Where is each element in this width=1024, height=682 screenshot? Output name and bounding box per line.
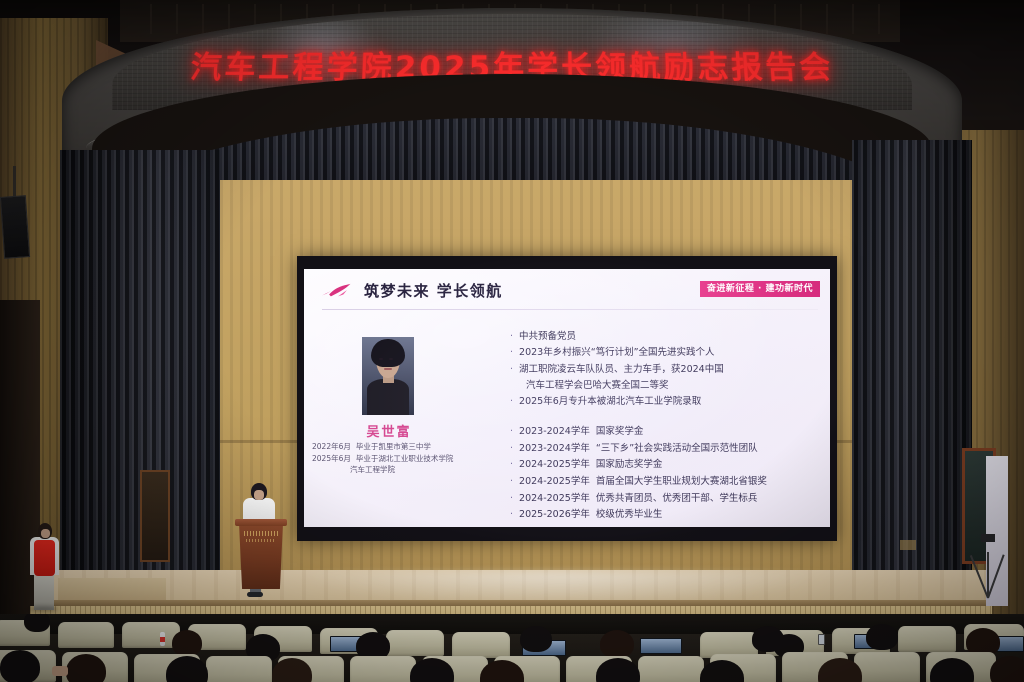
audience-head — [0, 650, 40, 682]
seat — [452, 632, 510, 658]
audience-head — [172, 630, 202, 656]
speaker-shoes — [247, 592, 263, 597]
bullet-text: 2023年乡村振兴“笃行计划”全国先进实践个人 — [519, 345, 715, 361]
education-text: 毕业于湖北工业职业技术学院 — [356, 453, 454, 465]
audience-head — [166, 656, 208, 682]
seat — [898, 626, 956, 652]
list-item: · 2023-2024学年 “三下乡”社会实践活动全国示范性团队 — [510, 441, 820, 458]
seat — [854, 652, 920, 682]
seat — [350, 656, 416, 682]
bullet-text: 中共预备党员 — [519, 329, 576, 345]
volunteer-red-vest — [34, 540, 55, 576]
list-item-cont: 汽车工程学会巴哈大赛全国二等奖 — [510, 378, 810, 394]
bullet-dot: · — [510, 507, 513, 524]
list-item: · 2025年6月专升本被湖北汽车工业学院录取 — [510, 394, 810, 410]
bullet-dot: · — [510, 441, 513, 458]
desk-monitor — [640, 638, 682, 654]
bullet-dot: · — [510, 457, 513, 474]
auditorium-photo: 汽车工程学院2025年学长领航励志报告会 筑梦未来 学长领航 奋进新征程 · 建… — [0, 0, 1024, 682]
bullet-text-cont: 汽车工程学会巴哈大赛全国二等奖 — [510, 378, 669, 394]
list-item: · 2023年乡村振兴“笃行计划”全国先进实践个人 — [510, 345, 810, 361]
portrait-photo — [362, 337, 414, 415]
seat — [206, 656, 272, 682]
slide-badge: 奋进新征程 · 建功新时代 — [700, 281, 820, 297]
award-name: 校级优秀毕业生 — [596, 507, 663, 524]
audience-arm — [52, 666, 68, 676]
award-year: 2023-2024学年 — [519, 441, 590, 458]
education-text: 毕业于凯里市第三中学 — [356, 441, 431, 453]
list-item: · 2024-2025学年 优秀共青团员、优秀团干部、学生标兵 — [510, 491, 820, 508]
bullet-dot: · — [510, 491, 513, 508]
bird-swoosh-icon — [320, 283, 356, 299]
award-year: 2025-2026学年 — [519, 507, 590, 524]
education-row: 2025年6月 毕业于湖北工业职业技术学院 — [312, 453, 492, 465]
bullet-dot: · — [510, 394, 513, 410]
list-item: · 2023-2024学年 国家奖学金 — [510, 424, 820, 441]
award-year: 2024-2025学年 — [519, 457, 590, 474]
camera-tripod — [965, 540, 1011, 598]
podium-inscription-sub — [246, 539, 276, 542]
audience-head — [600, 630, 634, 658]
podium-inscription — [244, 531, 278, 536]
audience-head — [596, 658, 640, 682]
bullet-text: 湖工职院凌云车队队员、主力车手，获2024中国 — [519, 362, 724, 378]
audience-head — [520, 626, 552, 652]
education-text-cont: 汽车工程学院 — [350, 464, 492, 476]
audience-head — [66, 654, 106, 682]
bullet-dot: · — [510, 362, 513, 378]
audience-phone — [818, 634, 825, 645]
portrait-eye-left — [379, 358, 383, 360]
portrait-eye-right — [389, 358, 393, 360]
list-item: · 2025-2026学年 校级优秀毕业生 — [510, 507, 820, 524]
award-year: 2023-2024学年 — [519, 424, 590, 441]
student-name: 吴世富 — [344, 421, 434, 440]
audience-head — [866, 624, 898, 650]
speaker-face — [254, 490, 264, 500]
education-list: 2022年6月 毕业于凯里市第三中学 2025年6月 毕业于湖北工业职业技术学院… — [312, 441, 492, 476]
slide-header: 筑梦未来 学长领航 奋进新征程 · 建功新时代 — [314, 277, 822, 307]
audience-head — [24, 614, 50, 632]
bullet-text: 2025年6月专升本被湖北汽车工业学院录取 — [519, 394, 701, 410]
podium-top — [235, 519, 287, 526]
seat — [638, 656, 704, 682]
bullet-dot: · — [510, 345, 513, 361]
education-row: 2022年6月 毕业于凯里市第三中学 — [312, 441, 492, 453]
awards-list: · 2023-2024学年 国家奖学金 · 2023-2024学年 “三下乡”社… — [510, 424, 820, 524]
audience-area — [0, 614, 1024, 682]
award-name: 国家奖学金 — [596, 424, 644, 441]
education-date: 2022年6月 — [312, 441, 351, 453]
education-date: 2025年6月 — [312, 453, 351, 465]
bullet-dot: · — [510, 424, 513, 441]
wall-vent — [900, 540, 916, 550]
achievements-list: · 中共预备党员 · 2023年乡村振兴“笃行计划”全国先进实践个人 · 湖工职… — [510, 329, 810, 411]
list-item: · 中共预备党员 — [510, 329, 810, 345]
seat — [58, 622, 114, 648]
volunteer-face — [41, 529, 50, 538]
award-name: 国家励志奖学金 — [596, 457, 663, 474]
award-year: 2024-2025学年 — [519, 474, 590, 491]
award-name: 优秀共青团员、优秀团干部、学生标兵 — [596, 491, 758, 508]
projection-screen: 筑梦未来 学长领航 奋进新征程 · 建功新时代 吴世富 2022年6月 毕业于凯… — [304, 269, 830, 527]
list-item: · 2024-2025学年 国家励志奖学金 — [510, 457, 820, 474]
list-item: · 湖工职院凌云车队队员、主力车手，获2024中国 — [510, 362, 810, 378]
volunteer-legs — [34, 574, 54, 610]
slide-title: 筑梦未来 学长领航 — [364, 280, 503, 301]
bullet-dot: · — [510, 474, 513, 491]
portrait-mouth — [384, 368, 392, 370]
stage-left-door — [140, 470, 170, 562]
hanging-loudspeaker — [0, 195, 30, 259]
volunteer-shadow — [28, 606, 58, 612]
audience-head — [990, 656, 1024, 682]
portrait-hair — [371, 339, 405, 367]
seat — [386, 630, 444, 656]
bullet-dot: · — [510, 329, 513, 345]
portrait-body — [367, 379, 409, 415]
water-bottle — [160, 632, 165, 646]
tripod-head — [981, 534, 995, 542]
award-name: 首届全国大学生职业规划大赛湖北省银奖 — [596, 474, 767, 491]
award-year: 2024-2025学年 — [519, 491, 590, 508]
list-item: · 2024-2025学年 首届全国大学生职业规划大赛湖北省银奖 — [510, 474, 820, 491]
slide-divider — [322, 309, 818, 310]
award-name: “三下乡”社会实践活动全国示范性团队 — [596, 441, 758, 458]
